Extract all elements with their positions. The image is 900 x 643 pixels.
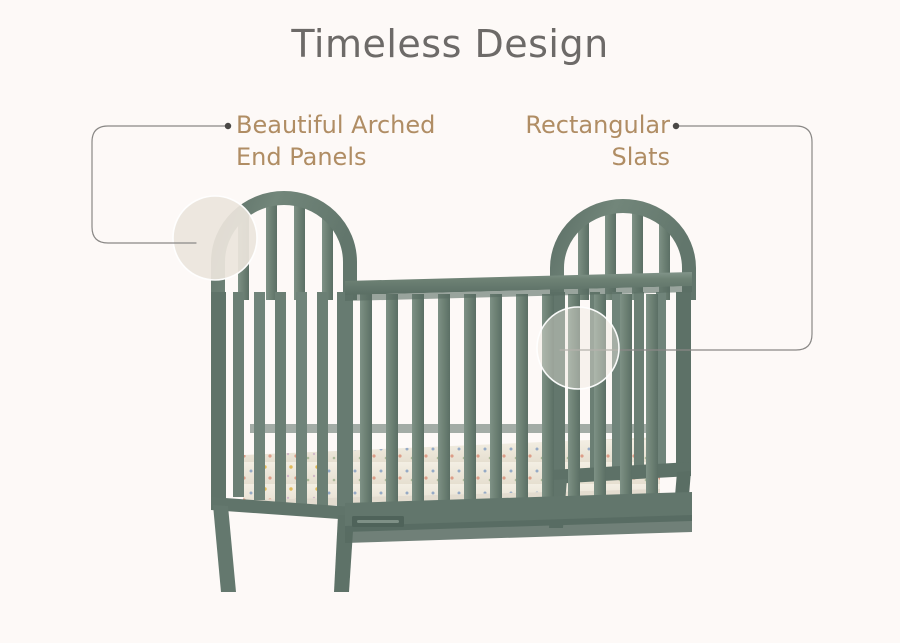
highlight-right-layer xyxy=(0,0,900,643)
infographic-canvas: Timeless Design xyxy=(0,0,900,643)
